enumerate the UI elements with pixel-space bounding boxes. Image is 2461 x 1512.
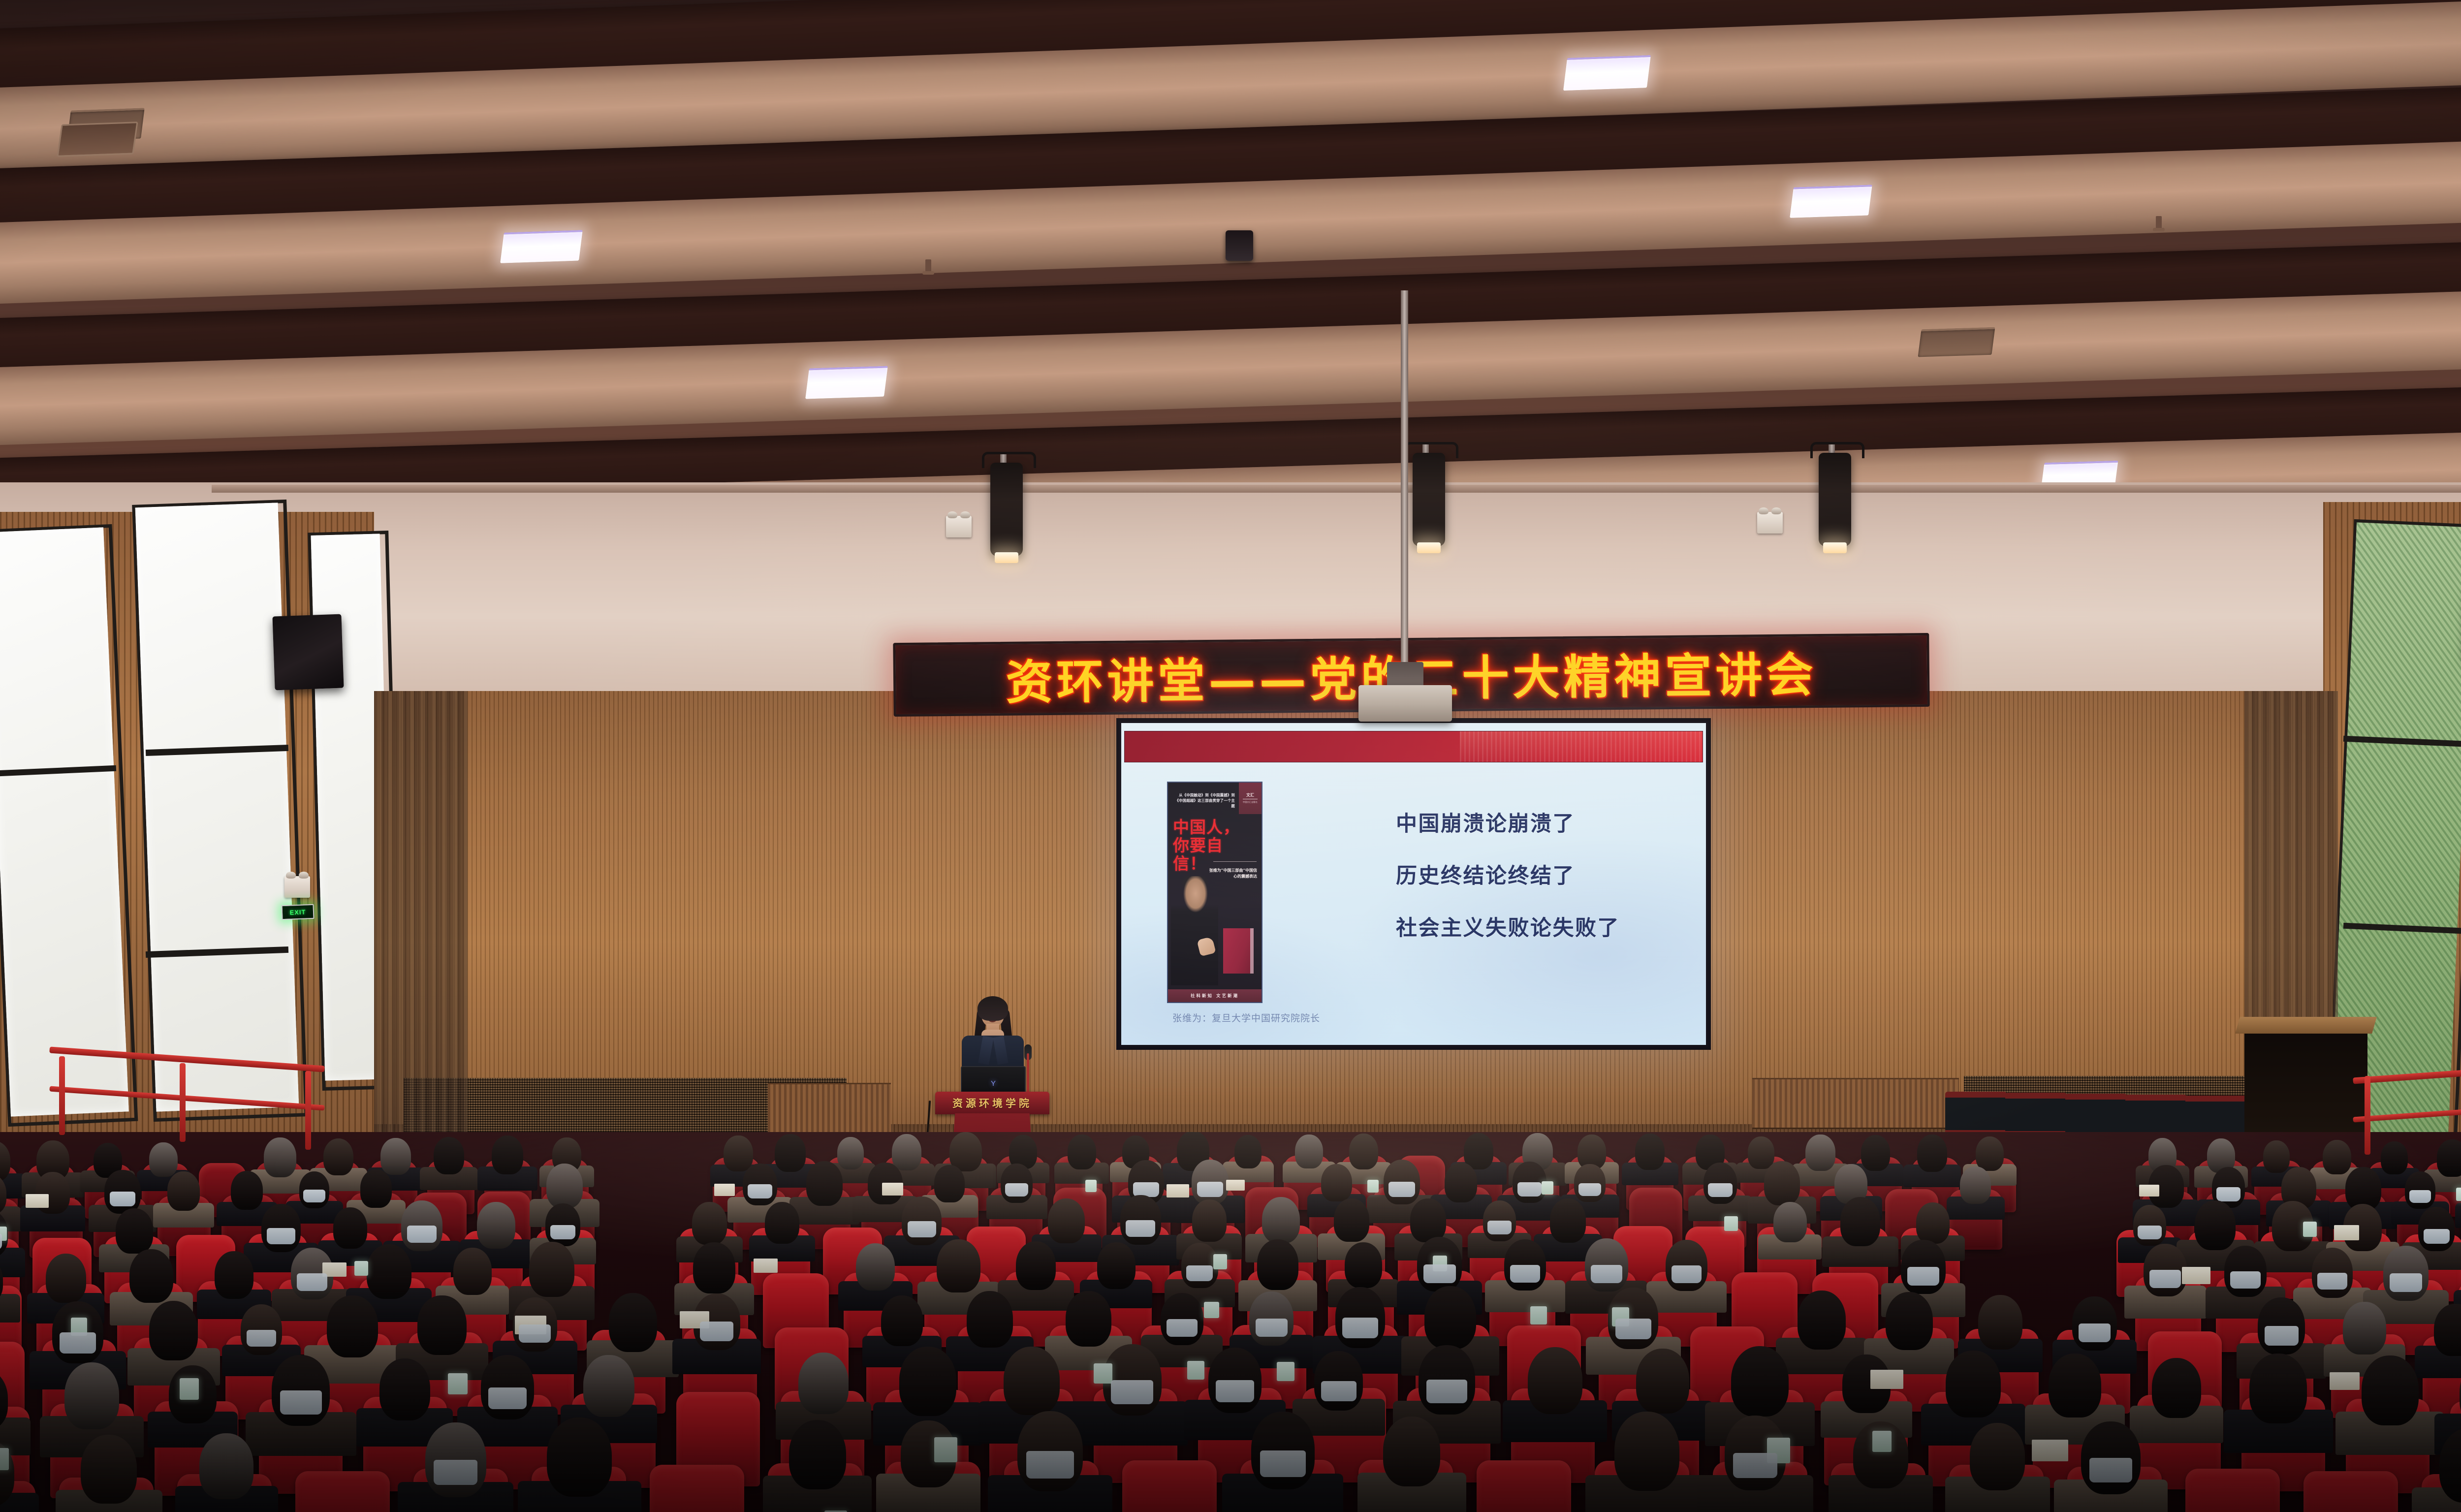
face-mask — [488, 1387, 526, 1410]
audience-seat — [295, 1471, 390, 1512]
audience-member — [149, 1142, 178, 1177]
slide-bullet-3: 社会主义失败论失败了 — [1396, 911, 1620, 942]
audience-member — [167, 1171, 199, 1211]
audience-member — [583, 1355, 634, 1417]
railing-post — [305, 1071, 311, 1150]
face-mask — [1186, 1265, 1213, 1281]
audience-notebook — [2330, 1372, 2360, 1390]
face-mask — [1005, 1183, 1028, 1197]
face-mask — [297, 1273, 327, 1291]
presenter-hair — [978, 996, 1008, 1021]
face-mask — [519, 1324, 551, 1343]
audience-member — [609, 1293, 657, 1352]
wall-speaker-left — [272, 614, 344, 691]
audience-phone-screen — [2303, 1222, 2317, 1237]
face-mask — [110, 1192, 136, 1206]
emergency-light-left-window — [284, 876, 310, 898]
audience-phone-screen — [1542, 1181, 1554, 1195]
audience-member — [1635, 1134, 1665, 1170]
face-mask — [1591, 1265, 1622, 1283]
sprinkler-head — [925, 259, 931, 272]
audience-phone-screen — [180, 1378, 199, 1400]
audience-member — [547, 1417, 612, 1497]
audience-member — [934, 1165, 965, 1202]
audience-member — [327, 1295, 378, 1357]
face-mask — [1708, 1183, 1732, 1197]
radiator-right — [1752, 1078, 1959, 1129]
railing-post — [2365, 1076, 2370, 1155]
face-mask — [1388, 1182, 1415, 1197]
audience-notebook — [1226, 1180, 1245, 1191]
audience-member-shoulders — [0, 1294, 20, 1323]
audience-phone-screen — [448, 1373, 468, 1395]
face-mask — [2138, 1226, 2162, 1239]
microphone-stem — [1027, 1053, 1029, 1096]
audience-phone-screen — [1187, 1361, 1204, 1380]
book-bottom-band: 社科新知 文艺新潮 — [1168, 989, 1262, 1002]
audience-member — [379, 1358, 430, 1420]
audience-phone-screen — [1530, 1306, 1547, 1325]
book-bottom-text: 社科新知 文艺新潮 — [1191, 993, 1239, 999]
emergency-light-backwall-right — [1757, 512, 1783, 534]
face-mask — [1907, 1267, 1939, 1285]
face-mask — [2409, 1190, 2431, 1203]
audience-member — [380, 1138, 411, 1175]
side-lectern-top — [2235, 1017, 2377, 1034]
audience-notebook — [26, 1194, 49, 1208]
audience-phone-screen — [0, 1448, 9, 1470]
audience-member — [1805, 1134, 1835, 1171]
stage-spotlight-right — [1819, 453, 1851, 546]
face-mask — [303, 1190, 325, 1202]
face-mask — [1111, 1380, 1153, 1404]
face-mask — [1487, 1221, 1512, 1234]
face-mask — [2424, 1229, 2450, 1244]
face-mask — [1510, 1265, 1541, 1283]
projection-screen: 文汇 中国文汇出版社 从《中国触动》到《中国震撼》到《中国超越》这三部曲贯穿了一… — [1116, 718, 1711, 1050]
audience-member — [856, 1243, 895, 1291]
audience-member — [1321, 1164, 1352, 1201]
face-mask — [2390, 1273, 2422, 1292]
audience-member — [1840, 1197, 1881, 1246]
audience-notebook — [2182, 1267, 2210, 1284]
audience-member — [1976, 1136, 2004, 1171]
audience-notebook — [754, 1259, 778, 1273]
book-top-line: 从《中国触动》到《中国震撼》到《中国超越》这三部曲贯穿了一个主题 — [1172, 792, 1235, 809]
book-publisher-box: 文汇 中国文汇出版社 — [1239, 783, 1262, 814]
audience-member — [264, 1137, 296, 1177]
sprinkler-head — [2156, 216, 2162, 229]
audience-member — [789, 1420, 846, 1490]
audience-member — [881, 1295, 923, 1346]
audience-member — [1748, 1136, 1774, 1169]
audience-member — [116, 1208, 153, 1254]
audience-member — [1295, 1134, 1323, 1168]
audience-member — [333, 1207, 367, 1249]
face-mask — [1426, 1380, 1467, 1403]
stage-drape-left — [374, 691, 468, 1178]
audience-member — [546, 1164, 583, 1208]
ceiling-panel-light — [500, 230, 583, 263]
face-mask — [748, 1184, 772, 1198]
audience-member — [417, 1295, 466, 1355]
audience-member — [1550, 1198, 1586, 1243]
audience-member — [1978, 1295, 2023, 1350]
ceiling-panel-light — [1790, 185, 1872, 218]
audience-notebook — [882, 1183, 903, 1195]
exit-sign-left[interactable]: EXIT — [281, 904, 314, 920]
ceiling-access-hatch — [57, 122, 138, 157]
slide-bullet-1: 中国崩溃论崩溃了 — [1396, 807, 1575, 837]
audience-seat — [2185, 1469, 2280, 1512]
face-mask — [1517, 1182, 1542, 1197]
audience-member — [81, 1435, 137, 1503]
stage-spotlight-left — [990, 463, 1023, 556]
slide-footer-text: 张维为：复旦大学中国研究院院长 — [1172, 1011, 1320, 1024]
audience-member — [1048, 1198, 1085, 1243]
radiator-left — [768, 1083, 891, 1134]
audience-member — [1764, 1161, 1800, 1205]
audience-member — [724, 1135, 753, 1171]
railing-post — [180, 1063, 186, 1142]
audience-notebook — [1870, 1370, 1903, 1389]
audience-member — [1410, 1198, 1446, 1242]
audience-member — [1383, 1417, 1440, 1486]
audience-member — [1068, 1134, 1096, 1169]
audience-member — [1636, 1349, 1689, 1414]
audience-member — [1257, 1239, 1298, 1290]
exit-sign-label: EXIT — [289, 908, 306, 916]
audience-notebook — [2032, 1440, 2069, 1461]
audience-member — [1262, 1197, 1300, 1243]
face-mask — [1733, 1453, 1777, 1479]
face-mask — [550, 1225, 575, 1240]
audience-member — [360, 1169, 391, 1207]
audience-member — [1960, 1166, 1990, 1204]
audience-member — [2263, 1140, 2290, 1173]
audience-member — [1970, 1423, 2025, 1490]
audience-member — [1066, 1291, 1111, 1347]
face-mask — [908, 1221, 936, 1238]
audience-seat — [2303, 1471, 2398, 1512]
audience-member — [806, 1161, 843, 1206]
slide-bullet-2: 历史终结论终结了 — [1396, 859, 1575, 889]
face-mask — [60, 1332, 96, 1354]
ceiling-panel-light — [1563, 55, 1651, 91]
ceiling-speaker — [1226, 230, 1253, 261]
audience-member — [64, 1362, 119, 1429]
face-mask — [1216, 1380, 1254, 1402]
audience-member — [1917, 1134, 1947, 1171]
audience-phone-screen — [1094, 1363, 1112, 1384]
audience-member — [149, 1301, 198, 1360]
audience-seat — [650, 1465, 744, 1512]
emergency-light-backwall-left — [946, 516, 972, 537]
presenter-laptop: Y — [961, 1066, 1026, 1094]
audience-member — [1886, 1292, 1933, 1350]
audience-member — [1946, 1351, 2000, 1417]
audience-member — [1424, 1286, 1476, 1349]
audience-seating — [0, 1132, 2461, 1512]
audience-member — [434, 1137, 464, 1174]
audience-phone-screen — [354, 1261, 368, 1276]
audience-member — [231, 1171, 263, 1210]
audience-member-shoulders — [2455, 1203, 2461, 1228]
audience-seat — [1122, 1460, 1217, 1512]
audience-member — [1528, 1347, 1582, 1414]
wall-trim — [212, 485, 2461, 493]
audience-member — [967, 1291, 1013, 1347]
aisle-railing-right — [2353, 1058, 2461, 1147]
audience-member — [46, 1254, 86, 1303]
podium-label: 资源环境学院 — [935, 1092, 1049, 1114]
audience-member — [1192, 1199, 1227, 1242]
audience-member — [1349, 1134, 1378, 1169]
stage-spotlight-center — [1413, 453, 1445, 546]
audience-phone-screen — [1213, 1254, 1227, 1269]
audience-member — [215, 1251, 253, 1299]
audience-phone-screen — [1367, 1180, 1379, 1193]
face-mask — [1672, 1265, 1702, 1283]
audience-member — [323, 1138, 354, 1176]
face-mask — [1342, 1318, 1378, 1338]
audience-member — [2049, 1354, 2101, 1417]
ceiling-projector — [1358, 685, 1452, 722]
book-publisher-name: 文汇 — [1246, 793, 1254, 797]
audience-member — [2249, 1354, 2307, 1424]
audience-phone-screen — [1277, 1362, 1294, 1381]
face-mask — [2265, 1326, 2299, 1346]
audience-member — [1345, 1242, 1382, 1288]
audience-notebook — [714, 1184, 735, 1196]
audience-member — [692, 1202, 727, 1245]
audience-seat — [1477, 1460, 1571, 1512]
face-mask — [267, 1228, 295, 1244]
audience-member — [1798, 1291, 1846, 1350]
face-mask — [700, 1322, 733, 1341]
audience-member — [477, 1202, 515, 1249]
slide-book-poster: 文汇 中国文汇出版社 从《中国触动》到《中国震撼》到《中国超越》这三部曲贯穿了一… — [1167, 782, 1262, 1003]
audience-member — [765, 1202, 799, 1244]
face-mask — [1026, 1451, 1073, 1478]
face-mask — [247, 1330, 277, 1347]
slide-title-bar — [1124, 731, 1703, 762]
railing-post — [59, 1056, 65, 1135]
book-title: 中国人，你要自信！ — [1173, 818, 1256, 873]
face-mask — [1260, 1450, 1306, 1477]
face-mask — [2149, 1270, 2180, 1288]
face-mask — [434, 1460, 477, 1485]
railing-bar — [49, 1086, 324, 1110]
audience-member — [1097, 1242, 1135, 1289]
ceiling-panel-light — [805, 366, 888, 399]
audience-member — [1731, 1346, 1789, 1417]
book-cover-boxset — [1223, 928, 1254, 974]
audience-member — [892, 1134, 922, 1170]
audience-member — [1773, 1202, 1807, 1243]
audience-notebook — [2139, 1185, 2159, 1197]
face-mask — [1126, 1220, 1155, 1237]
auditorium-scene: EXIT EXIT 资环讲堂——党的二十大精神宣讲会 — [0, 0, 2461, 1512]
book-divider-rule — [1213, 861, 1257, 862]
window-glass-left-2 — [135, 503, 299, 1111]
face-mask — [2230, 1271, 2261, 1289]
audience-member — [775, 1134, 806, 1171]
ceiling — [0, 0, 2461, 497]
face-mask — [1321, 1381, 1356, 1401]
audience-member — [1234, 1135, 1262, 1168]
audience-notebook — [2334, 1225, 2359, 1240]
face-mask — [1197, 1182, 1224, 1197]
slide: 文汇 中国文汇出版社 从《中国触动》到《中国震撼》到《中国超越》这三部曲贯穿了一… — [1121, 723, 1706, 1045]
audience-member — [1614, 1412, 1679, 1491]
audience-member — [2343, 1302, 2386, 1354]
face-mask — [1578, 1183, 1601, 1196]
audience-member — [2195, 1200, 2236, 1250]
audience-phone-screen — [1872, 1431, 1892, 1452]
audience-notebook — [1167, 1184, 1189, 1197]
audience-member — [1334, 1198, 1369, 1242]
book-publisher-sub: 中国文汇出版社 — [1243, 801, 1258, 804]
audience-member — [1004, 1347, 1060, 1415]
face-mask — [1167, 1319, 1198, 1337]
audience-member — [2362, 1355, 2419, 1425]
face-mask — [280, 1390, 322, 1415]
audience-member — [1916, 1202, 1950, 1244]
audience-member — [899, 1347, 956, 1416]
audience-member — [693, 1242, 735, 1294]
audience-phone-screen — [1204, 1302, 1219, 1318]
side-lectern — [2244, 1022, 2367, 1135]
audience-member — [1016, 1241, 1056, 1290]
audience-member — [529, 1242, 574, 1297]
ceiling-panel-light — [1918, 327, 1995, 357]
book-publisher-rule — [1243, 799, 1258, 799]
audience-member — [492, 1135, 524, 1174]
audience-member — [798, 1353, 849, 1414]
audience-phone-screen — [1724, 1216, 1737, 1231]
face-mask — [1256, 1319, 1288, 1337]
aisle-railing-left — [49, 1053, 325, 1142]
projector-pole — [1401, 290, 1408, 679]
face-mask — [2079, 1323, 2111, 1342]
laptop-logo: Y — [989, 1080, 997, 1088]
face-mask — [2089, 1458, 2132, 1482]
audience-member — [129, 1249, 173, 1303]
book-cover-person — [1171, 876, 1218, 985]
face-mask — [1423, 1264, 1456, 1283]
audience-member — [837, 1137, 864, 1169]
audience-phone-screen — [2456, 1188, 2461, 1201]
audience-phone-screen — [934, 1437, 957, 1462]
face-mask — [2216, 1187, 2240, 1201]
audience-member — [1445, 1163, 1477, 1202]
face-mask — [2317, 1273, 2347, 1290]
audience-member — [453, 1248, 492, 1295]
audience-member — [2323, 1140, 2351, 1174]
audience-member — [1861, 1135, 1891, 1171]
audience-member — [937, 1239, 980, 1292]
audience-member — [199, 1433, 253, 1499]
audience-phone-screen — [1085, 1180, 1097, 1192]
audience-member-shoulders — [0, 1248, 25, 1277]
audience-member — [367, 1244, 411, 1299]
face-mask — [407, 1226, 437, 1243]
face-mask — [1615, 1319, 1651, 1339]
audience-member — [2152, 1358, 2201, 1418]
